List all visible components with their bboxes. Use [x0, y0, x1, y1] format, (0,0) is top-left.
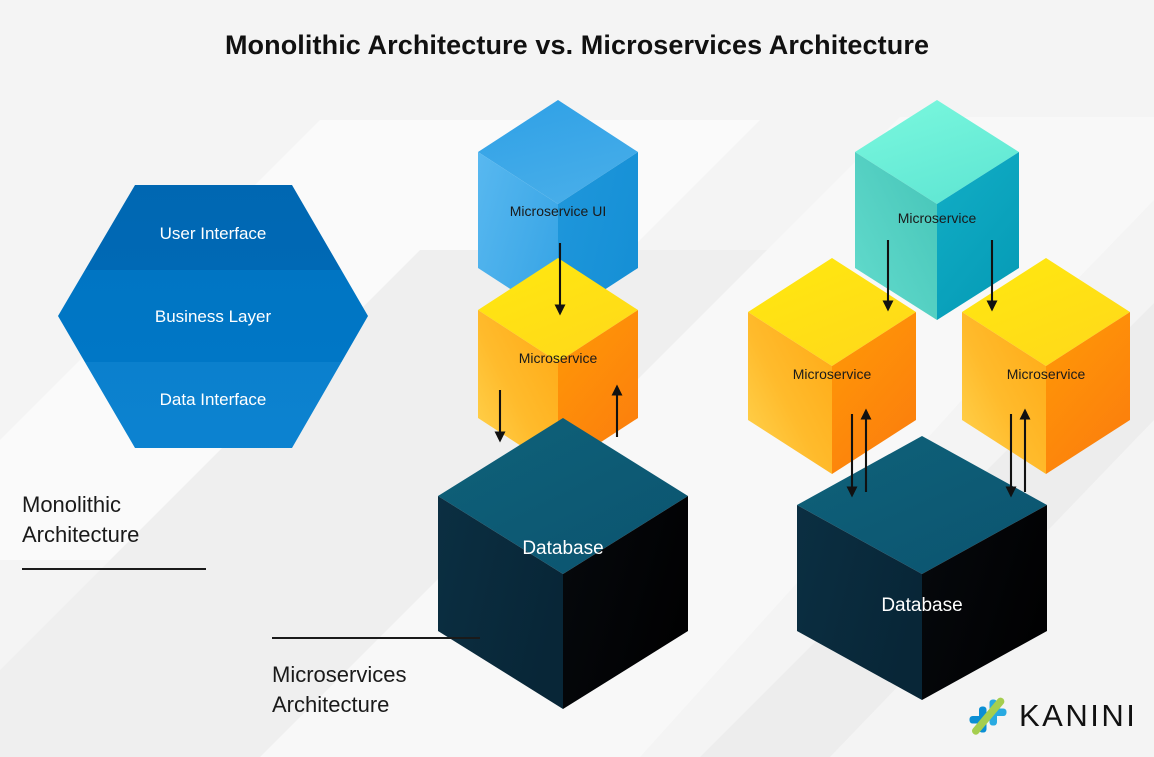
caption-rule-microservices	[272, 637, 480, 639]
hexagon-band-user-interface	[50, 180, 375, 270]
kanini-logo[interactable]: KANINI	[966, 694, 1137, 738]
caption-microservices-architecture: Microservices Architecture	[272, 660, 406, 720]
hexagon-band-data-interface	[50, 362, 375, 457]
page-title: Monolithic Architecture vs. Microservice…	[0, 30, 1154, 61]
caption-monolithic-architecture: Monolithic Architecture	[22, 490, 139, 550]
cube-right-microservice-right[interactable]	[962, 258, 1130, 474]
monolith-hexagon[interactable]	[50, 180, 375, 457]
hexagon-band-business-layer	[50, 270, 375, 362]
diagram-canvas: Monolithic Architecture vs. Microservice…	[0, 0, 1154, 757]
cube-right-teal-microservice[interactable]	[855, 100, 1019, 320]
cube-middle-database[interactable]	[438, 418, 688, 709]
caption-rule-monolithic	[22, 568, 206, 570]
cube-right-database[interactable]	[797, 436, 1047, 700]
architecture-figure	[0, 0, 1154, 757]
kanini-logo-mark	[966, 694, 1010, 738]
kanini-logo-text: KANINI	[1019, 698, 1137, 734]
